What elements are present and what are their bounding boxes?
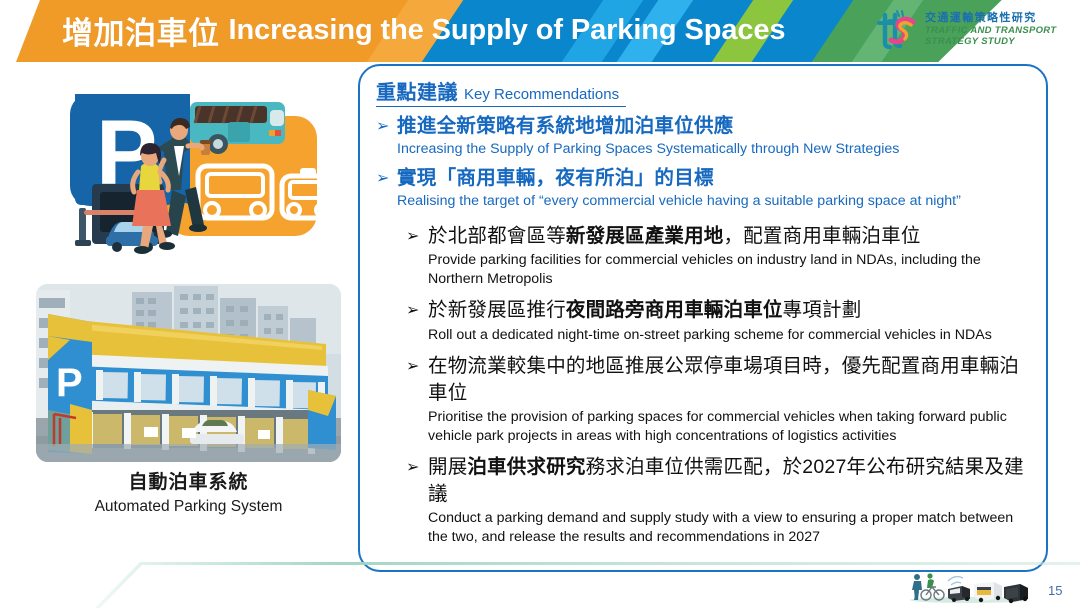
recommendation-l2-zh: 在物流業較集中的地區推展公眾停車場項目時，優先配置商用車輛泊車位	[428, 353, 1036, 405]
recommendation-l1-zh: 實現「商用車輛，夜有所泊」的目標	[397, 166, 1036, 191]
logo-text: 交通運輸策略性研究 TRAFFIC AND TRANSPORT STRATEGY…	[925, 12, 1056, 47]
logo-text-zh: 交通運輸策略性研究	[925, 12, 1056, 25]
l2-zh-post: 專項計劃	[783, 299, 862, 321]
panel-heading-en: Key Recommendations	[464, 86, 619, 103]
chevron-right-icon: ➢	[376, 114, 397, 159]
page-number: 15	[1048, 583, 1062, 598]
chevron-right-icon: ➢	[406, 297, 428, 344]
l2-zh-pre: 在物流業較集中的地區推展公眾停車場項目時，優先配置商用車輛泊車位	[428, 355, 1019, 403]
logo: 交通運輸策略性研究 TRAFFIC AND TRANSPORT STRATEGY…	[875, 9, 1056, 51]
recommendation-l2: ➢ 於新發展區推行夜間路旁商用車輛泊車位專項計劃 Roll out a dedi…	[406, 297, 1036, 344]
recommendation-l2: ➢ 在物流業較集中的地區推展公眾停車場項目時，優先配置商用車輛泊車位 Prior…	[406, 353, 1036, 445]
svg-text:P: P	[56, 361, 83, 405]
chevron-right-icon: ➢	[406, 353, 428, 445]
key-recommendations-panel: 重點建議 Key Recommendations ➢ 推進全新策略有系統地增加泊…	[358, 64, 1048, 572]
recommendation-l2-en: Conduct a parking demand and supply stud…	[428, 509, 1036, 547]
logo-text-en-line1: TRAFFIC AND TRANSPORT	[925, 25, 1056, 36]
panel-heading: 重點建議 Key Recommendations	[376, 76, 626, 107]
photo-caption-zh: 自動泊車系統	[36, 470, 341, 496]
recommendation-l1: ➢ 實現「商用車輛，夜有所泊」的目標 Realising the target …	[376, 166, 1036, 211]
recommendation-sublist: ➢ 於北部都會區等新發展區產業用地，配置商用車輛泊車位 Provide park…	[406, 223, 1036, 547]
page-title-en: Increasing the Supply of Parking Spaces	[229, 14, 786, 47]
parking-illustration: P	[22, 72, 352, 262]
recommendation-l2-zh: 於北部都會區等新發展區產業用地，配置商用車輛泊車位	[428, 223, 1036, 249]
l2-zh-bold: 新發展區產業用地	[566, 225, 724, 247]
panel-heading-zh: 重點建議	[376, 76, 458, 105]
photo-caption: 自動泊車系統 Automated Parking System	[36, 470, 341, 517]
l2-zh-bold: 夜間路旁商用車輛泊車位	[566, 299, 783, 321]
chevron-right-icon: ➢	[406, 454, 428, 546]
recommendation-l1-en: Increasing the Supply of Parking Spaces …	[397, 140, 1036, 158]
l2-zh-post: ，配置商用車輛泊車位	[724, 225, 921, 247]
recommendation-l2-zh: 於新發展區推行夜間路旁商用車輛泊車位專項計劃	[428, 297, 1036, 323]
recommendation-l1-zh: 推進全新策略有系統地增加泊車位供應	[397, 114, 1036, 139]
slide: 增加泊車位 Increasing the Supply of Parking S…	[0, 0, 1080, 608]
recommendation-l1-en: Realising the target of “every commercia…	[397, 192, 1036, 210]
l2-zh-pre: 開展	[428, 456, 467, 478]
transport-modes-strip-icon	[908, 570, 1028, 604]
recommendation-l1: ➢ 推進全新策略有系統地增加泊車位供應 Increasing the Suppl…	[376, 114, 1036, 159]
l2-zh-pre: 於新發展區推行	[428, 299, 566, 321]
recommendation-l2-zh: 開展泊車供求研究務求泊車位供需匹配，於2027年公布研究結果及建議	[428, 454, 1036, 506]
recommendation-l2: ➢ 於北部都會區等新發展區產業用地，配置商用車輛泊車位 Provide park…	[406, 223, 1036, 289]
logo-text-en-line2: STRATEGY STUDY	[925, 36, 1056, 47]
recommendation-l2-en: Provide parking facilities for commercia…	[428, 251, 1036, 289]
recommendation-l2-en: Roll out a dedicated night-time on-stree…	[428, 326, 1036, 345]
chevron-right-icon: ➢	[376, 166, 397, 211]
recommendation-l2-en: Prioritise the provision of parking spac…	[428, 408, 1036, 446]
page-title-zh: 增加泊車位	[62, 8, 220, 53]
recommendation-l2: ➢ 開展泊車供求研究務求泊車位供需匹配，於2027年公布研究結果及建議 Cond…	[406, 454, 1036, 546]
l2-zh-bold: 泊車供求研究	[467, 456, 585, 478]
automated-parking-system-photo: P	[36, 284, 341, 462]
photo-caption-en: Automated Parking System	[36, 497, 341, 517]
tss-monogram-icon	[875, 9, 919, 51]
chevron-right-icon: ➢	[406, 223, 428, 289]
page-title: 增加泊車位 Increasing the Supply of Parking S…	[62, 6, 785, 54]
l2-zh-pre: 於北部都會區等	[428, 225, 566, 247]
